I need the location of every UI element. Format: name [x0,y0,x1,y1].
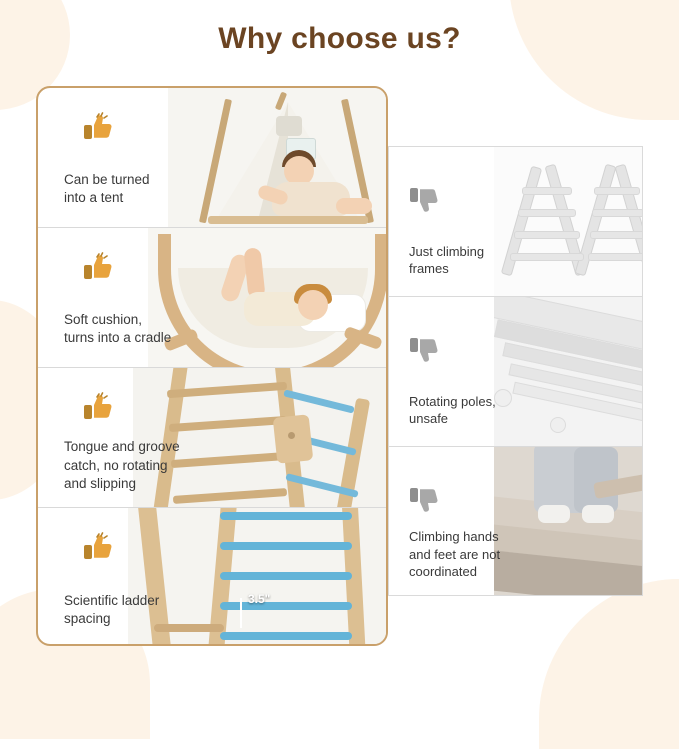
cons-column: Just climbing frames Rotating poles, u [388,146,643,596]
pro-row: 3.5" Scientific ladder spacing [38,508,386,646]
thumbs-up-icon [83,112,113,142]
con-row: Climbing hands and feet are not coordina… [388,446,643,596]
con-row: Just climbing frames [388,146,643,296]
pro-label: Soft cushion, turns into a cradle [64,311,214,347]
pros-column: Can be turned into a tent [36,86,388,646]
con-label: Just climbing frames [409,243,539,278]
con-label: Rotating poles, unsafe [409,393,539,428]
page-title: Why choose us? [0,22,679,56]
pro-label: Can be turned into a tent [64,171,214,207]
ladder-spacing-measurement: 3.5" [248,592,270,606]
thumbs-down-icon [409,335,439,365]
pro-label: Tongue and groove catch, no rotating and… [64,438,214,493]
thumbs-up-icon [83,252,113,282]
thumbs-up-icon [83,532,113,562]
pro-row: Can be turned into a tent [38,88,386,228]
comparison-board: Can be turned into a tent [36,86,643,646]
thumbs-down-icon [409,485,439,515]
pro-row: Soft cushion, turns into a cradle [38,228,386,368]
thumbs-up-icon [83,392,113,422]
con-label: Climbing hands and feet are not coordina… [409,528,539,581]
thumbs-down-icon [409,185,439,215]
con-row: Rotating poles, unsafe [388,296,643,446]
pro-label: Scientific ladder spacing [64,592,214,628]
pro-row: Tongue and groove catch, no rotating and… [38,368,386,508]
